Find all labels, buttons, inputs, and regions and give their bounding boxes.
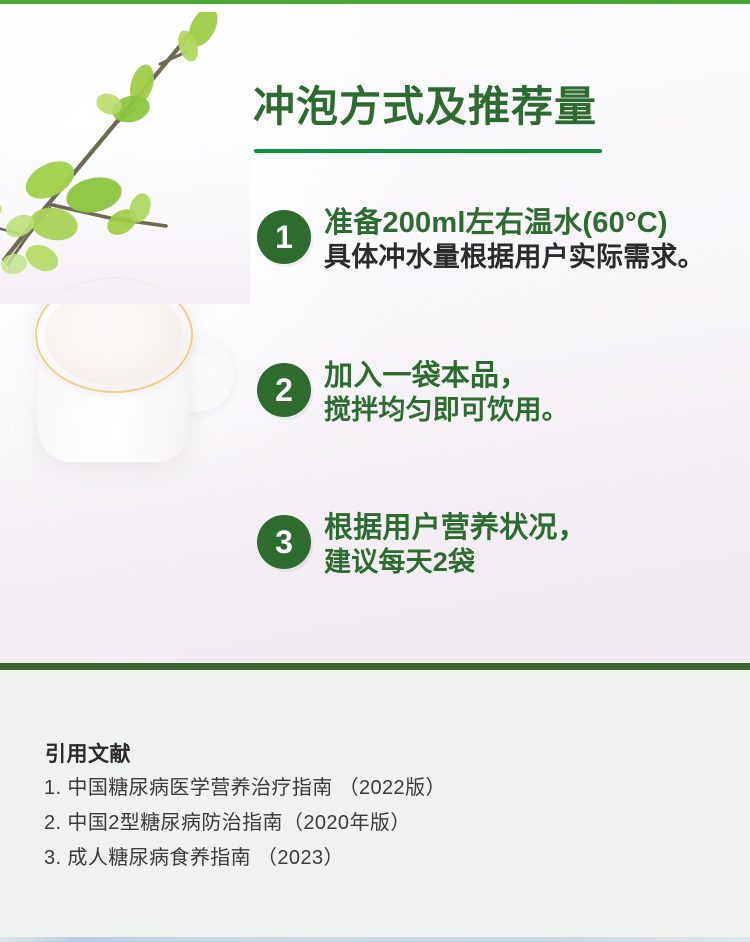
step-number-badge: 3 (257, 515, 311, 569)
leaf-shapes (0, 12, 223, 276)
step-number-badge: 2 (257, 363, 311, 417)
section-title: 冲泡方式及推荐量 (253, 86, 597, 128)
step-subline: 搅拌均匀即可饮用。 (324, 394, 569, 426)
leaf-branch-decoration (0, 12, 270, 342)
reference-item: 2. 中国2型糖尿病防治指南（2020年版） (44, 813, 684, 833)
section-title-underline (254, 149, 602, 153)
references-heading: 引用文献 (45, 738, 131, 768)
step-subline: 建议每天2袋 (324, 546, 587, 578)
brewing-instructions-panel: 冲泡方式及推荐量 1 准备200ml左右温水(60°C) 具体冲水量根据用户实际… (0, 4, 750, 662)
references-list: 1. 中国糖尿病医学营养治疗指南 （2022版） 2. 中国2型糖尿病防治指南（… (44, 778, 684, 883)
brewing-step-1: 1 准备200ml左右温水(60°C) 具体冲水量根据用户实际需求。 (257, 207, 705, 273)
step-text-block: 加入一袋本品， 搅拌均匀即可饮用。 (324, 360, 569, 426)
section-divider (0, 662, 750, 671)
step-headline: 根据用户营养状况， (324, 512, 587, 546)
product-detail-page: 冲泡方式及推荐量 1 准备200ml左右温水(60°C) 具体冲水量根据用户实际… (0, 0, 750, 942)
brewing-step-2: 2 加入一袋本品， 搅拌均匀即可饮用。 (257, 360, 569, 426)
bottom-accent-strip (0, 937, 750, 942)
branch-svg (0, 12, 270, 342)
brewing-step-3: 3 根据用户营养状况， 建议每天2袋 (257, 512, 587, 578)
step-text-block: 准备200ml左右温水(60°C) 具体冲水量根据用户实际需求。 (324, 207, 705, 273)
step-headline: 加入一袋本品， (324, 360, 569, 394)
step-headline: 准备200ml左右温水(60°C) (324, 207, 705, 241)
step-number-badge: 1 (257, 210, 311, 264)
reference-item: 3. 成人糖尿病食养指南 （2023） (44, 848, 684, 868)
step-subline: 具体冲水量根据用户实际需求。 (324, 241, 705, 273)
step-text-block: 根据用户营养状况， 建议每天2袋 (324, 512, 587, 578)
reference-item: 1. 中国糖尿病医学营养治疗指南 （2022版） (44, 778, 684, 798)
